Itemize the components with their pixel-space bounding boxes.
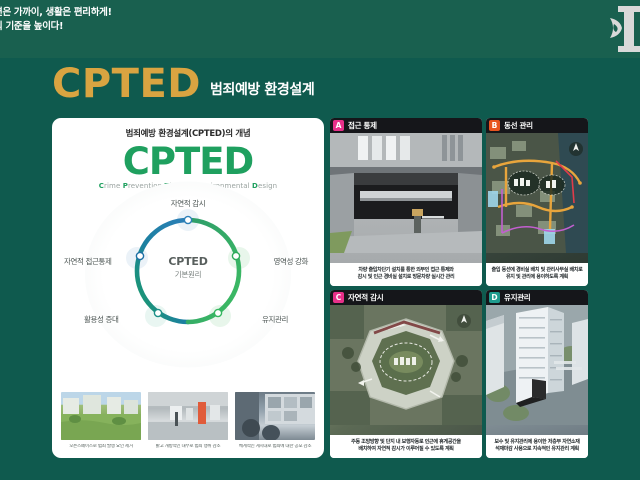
tower-stone-finish-image — [486, 305, 588, 435]
diagram-center-label: CPTED 기본원리 — [148, 255, 228, 280]
panel-access-control: A 접근 통제 — [330, 118, 482, 286]
panel-caption-a-line2: 감시 및 인근 경비실 설치로 방문차량 실시간 관리 — [332, 274, 480, 281]
panel-header: C 자연적 감시 — [330, 290, 482, 305]
panel-header: D 유지관리 — [486, 290, 588, 305]
vehicle-entrance-gate-image — [330, 133, 482, 263]
site-circulation-plan-image — [486, 133, 588, 263]
concept-photo-strip: 오픈스페이스로 범죄 발생 요인 제거 밝고 개방적인 내부로 범죄 행위 감소 — [52, 392, 324, 450]
panel-title-a: 접근 통제 — [348, 120, 377, 131]
panel-badge-d: D — [489, 292, 500, 303]
panel-natural-surveillance: C 자연적 감시 — [330, 290, 482, 458]
concept-card: 범죄예방 환경설계(CPTED)의 개념 CPTED Crime Prevent… — [52, 118, 324, 458]
panel-title-c: 자연적 감시 — [348, 292, 383, 303]
notice-board-photo — [235, 392, 315, 440]
diagram-center-main: CPTED — [148, 255, 228, 268]
diagram-node-activity-support: 활용성 증대 — [84, 314, 118, 325]
concept-photo-item: 체계적인 게시대로 범죄에 대한 공포 감소 — [235, 392, 315, 450]
corporate-logo-icon — [596, 2, 640, 54]
diagram-node-access-control: 자연적 접근통제 — [64, 256, 111, 267]
expansion-w1: rime — [104, 182, 120, 190]
concept-photo-item: 오픈스페이스로 범죄 발생 요인 제거 — [61, 392, 141, 450]
panel-caption-d-line1: 보수 및 유지관리에 용이한 저층부 자연소재 — [488, 439, 586, 446]
page-title: CPTED 범죄예방 환경설계 — [52, 64, 314, 104]
header-tagline-line-2: 의 기준을 높이다! — [0, 20, 112, 34]
concept-heading: 범죄예방 환경설계(CPTED)의 개념 — [52, 127, 324, 139]
open-space-photo-caption: 오픈스페이스로 범죄 발생 요인 제거 — [61, 444, 141, 450]
page-title-main: CPTED — [52, 64, 201, 104]
concept-photo-item: 밝고 개방적인 내부로 범죄 행위 감소 — [148, 392, 228, 450]
open-space-photo — [61, 392, 141, 440]
panel-caption-d-line2: 석재마감 사용으로 지속적인 유지관리 계획 — [488, 446, 586, 453]
courtyard-surveillance-plan-image — [330, 305, 482, 435]
panel-caption-c-line1: 주동 조망방향 및 단지 내 보행자동로 인근에 휴게공간을 — [332, 439, 480, 446]
header-bar: 연은 가까이, 생활은 편리하게! 의 기준을 높이다! — [0, 0, 640, 58]
panel-title-b: 동선 관리 — [504, 120, 533, 131]
cpted-principles-diagram: CPTED 기본원리 자연적 감시 영역성 강화 유지관리 활용성 증대 자연적… — [52, 192, 324, 342]
panel-badge-a: A — [333, 120, 344, 131]
panel-header: B 동선 관리 — [486, 118, 588, 133]
notice-board-photo-caption: 체계적인 게시대로 범죄에 대한 공포 감소 — [235, 444, 315, 450]
panel-maintenance: D 유지관리 — [486, 290, 588, 458]
cpted-wordmark: CPTED — [52, 143, 324, 181]
header-tagline: 연은 가까이, 생활은 편리하게! 의 기준을 높이다! — [0, 6, 112, 34]
diagram-node-maintenance: 유지관리 — [262, 314, 288, 325]
expansion-w5: esign — [258, 182, 277, 190]
diagram-node-territoriality: 영역성 강화 — [274, 256, 308, 267]
panel-caption-a: 차량 출입차단기 설치를 통한 외부인 접근 통제와 감시 및 인근 경비실 설… — [330, 263, 482, 286]
bright-interior-photo-caption: 밝고 개방적인 내부로 범죄 행위 감소 — [148, 444, 228, 450]
panel-caption-d: 보수 및 유지관리에 용이한 저층부 자연소재 석재마감 사용으로 지속적인 유… — [486, 435, 588, 458]
panel-title-d: 유지관리 — [504, 292, 530, 303]
panel-circulation-management: B 동선 관리 — [486, 118, 588, 286]
diagram-center-sub: 기본원리 — [148, 269, 228, 280]
diagram-node-natural-surveillance: 자연적 감시 — [171, 198, 205, 209]
panel-caption-b-line1: 출입 동선에 경비실 배치 및 관리사무실 배치로 — [488, 267, 586, 274]
strategy-panel-grid: A 접근 통제 — [330, 118, 588, 458]
page-title-sub: 범죄예방 환경설계 — [210, 80, 314, 104]
header-tagline-line-1: 연은 가까이, 생활은 편리하게! — [0, 6, 112, 20]
bright-interior-photo — [148, 392, 228, 440]
panel-caption-b: 출입 동선에 경비실 배치 및 관리사무실 배치로 유지 및 관리에 용이하도록… — [486, 263, 588, 286]
panel-badge-c: C — [333, 292, 344, 303]
panel-header: A 접근 통제 — [330, 118, 482, 133]
panel-caption-a-line1: 차량 출입차단기 설치를 통한 외부인 접근 통제와 — [332, 267, 480, 274]
panel-caption-c-line2: 배치하여 자연적 감시가 이루어질 수 있도록 계획 — [332, 446, 480, 453]
panel-badge-b: B — [489, 120, 500, 131]
panel-caption-b-line2: 유지 및 관리에 용이하도록 계획 — [488, 274, 586, 281]
panel-caption-c: 주동 조망방향 및 단지 내 보행자동로 인근에 휴게공간을 배치하여 자연적 … — [330, 435, 482, 458]
